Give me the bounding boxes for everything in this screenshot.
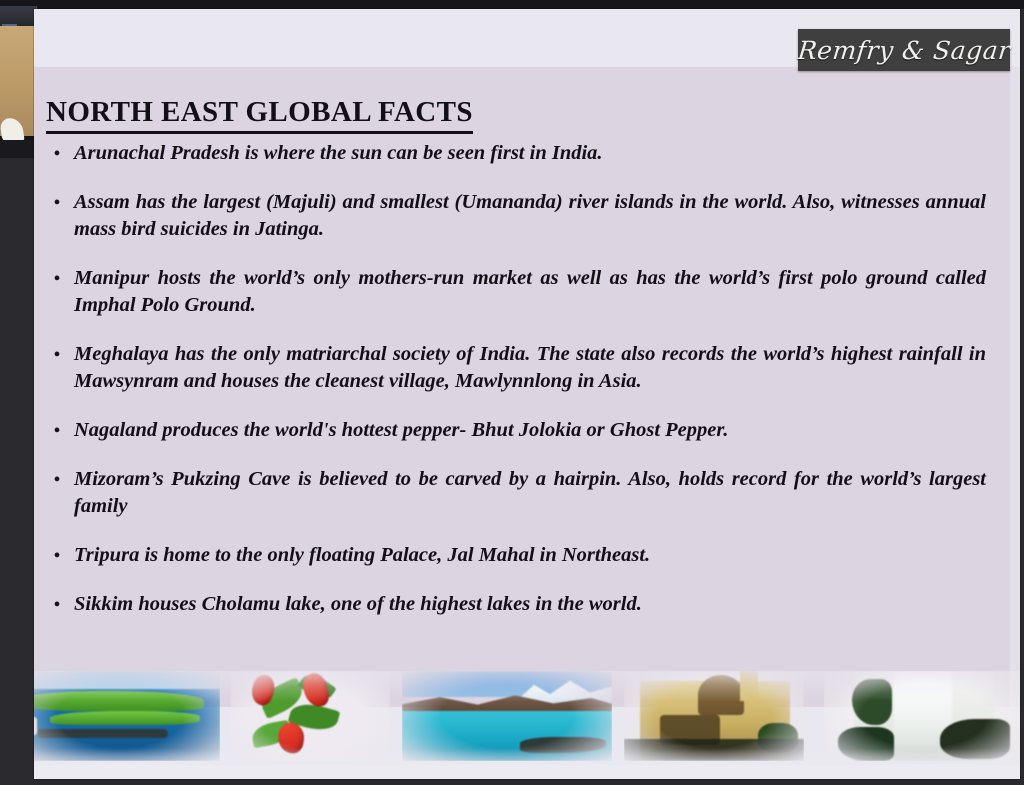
ghost-pepper-photo (230, 671, 390, 761)
photo-rocks (520, 737, 606, 753)
list-item: • Manipur hosts the world’s only mothers… (40, 265, 1004, 319)
photo-vegetation (34, 691, 204, 711)
list-item-text: Arunachal Pradesh is where the sun can b… (74, 140, 1004, 167)
presenter-webcam-thumbnail[interactable] (0, 6, 37, 158)
list-item-text: Mizoram’s Pukzing Cave is believed to be… (74, 466, 1004, 520)
page-title: NORTH EAST GLOBAL FACTS (46, 96, 473, 133)
bullet-marker-icon: • (40, 466, 74, 493)
photo-vegetation (50, 711, 200, 725)
photo-tower (740, 671, 758, 701)
slide-footer (34, 765, 1020, 779)
bullet-marker-icon: • (40, 189, 74, 216)
photo-vegetation (940, 719, 1010, 759)
photo-boat (38, 729, 168, 738)
webcam-desk (0, 140, 36, 158)
company-logo-text: Remfry & Sagar (796, 36, 1012, 65)
presentation-slide: Remfry & Sagar NORTH EAST GLOBAL FACTS •… (34, 9, 1020, 779)
bullet-marker-icon: • (40, 265, 74, 292)
bullet-marker-icon: • (40, 542, 74, 569)
list-item-text: Sikkim houses Cholamu lake, one of the h… (74, 591, 1004, 618)
list-item: • Mizoram’s Pukzing Cave is believed to … (40, 466, 1004, 520)
list-item-text: Manipur hosts the world’s only mothers-r… (74, 265, 1004, 319)
bullet-marker-icon: • (40, 417, 74, 444)
list-item-text: Meghalaya has the only matriarchal socie… (74, 341, 1004, 395)
bullet-marker-icon: • (40, 341, 74, 368)
photo-vegetation (852, 679, 892, 725)
photo-figure (34, 717, 37, 735)
photo-strip (34, 671, 1020, 767)
list-item: • Arunachal Pradesh is where the sun can… (40, 140, 1004, 167)
wetland-lake-photo (34, 671, 220, 761)
list-item: • Tripura is home to the only floating P… (40, 542, 1004, 569)
list-item: • Assam has the largest (Majuli) and sma… (40, 189, 1004, 243)
bullet-marker-icon: • (40, 591, 74, 618)
list-item: • Meghalaya has the only matriarchal soc… (40, 341, 1004, 395)
webcam-ceiling (0, 6, 36, 26)
bullet-marker-icon: • (40, 140, 74, 167)
photo-dome (698, 675, 744, 715)
list-item-text: Tripura is home to the only floating Pal… (74, 542, 1004, 569)
waterfall-photo (824, 671, 1020, 761)
company-logo: Remfry & Sagar (798, 29, 1010, 71)
player-top-bar (0, 0, 1024, 9)
mountain-lake-photo (402, 671, 612, 761)
bullet-list: • Arunachal Pradesh is where the sun can… (40, 140, 1004, 640)
sandstone-palace-photo (624, 671, 804, 761)
screen-share-viewport: Remfry & Sagar NORTH EAST GLOBAL FACTS •… (0, 0, 1024, 785)
list-item-text: Nagaland produces the world's hottest pe… (74, 417, 1004, 444)
photo-vegetation (838, 727, 894, 761)
list-item-text: Assam has the largest (Majuli) and small… (74, 189, 1004, 243)
photo-water (402, 711, 612, 761)
list-item: • Nagaland produces the world's hottest … (40, 417, 1004, 444)
list-item: • Sikkim houses Cholamu lake, one of the… (40, 591, 1004, 618)
photo-foreground (624, 739, 804, 761)
